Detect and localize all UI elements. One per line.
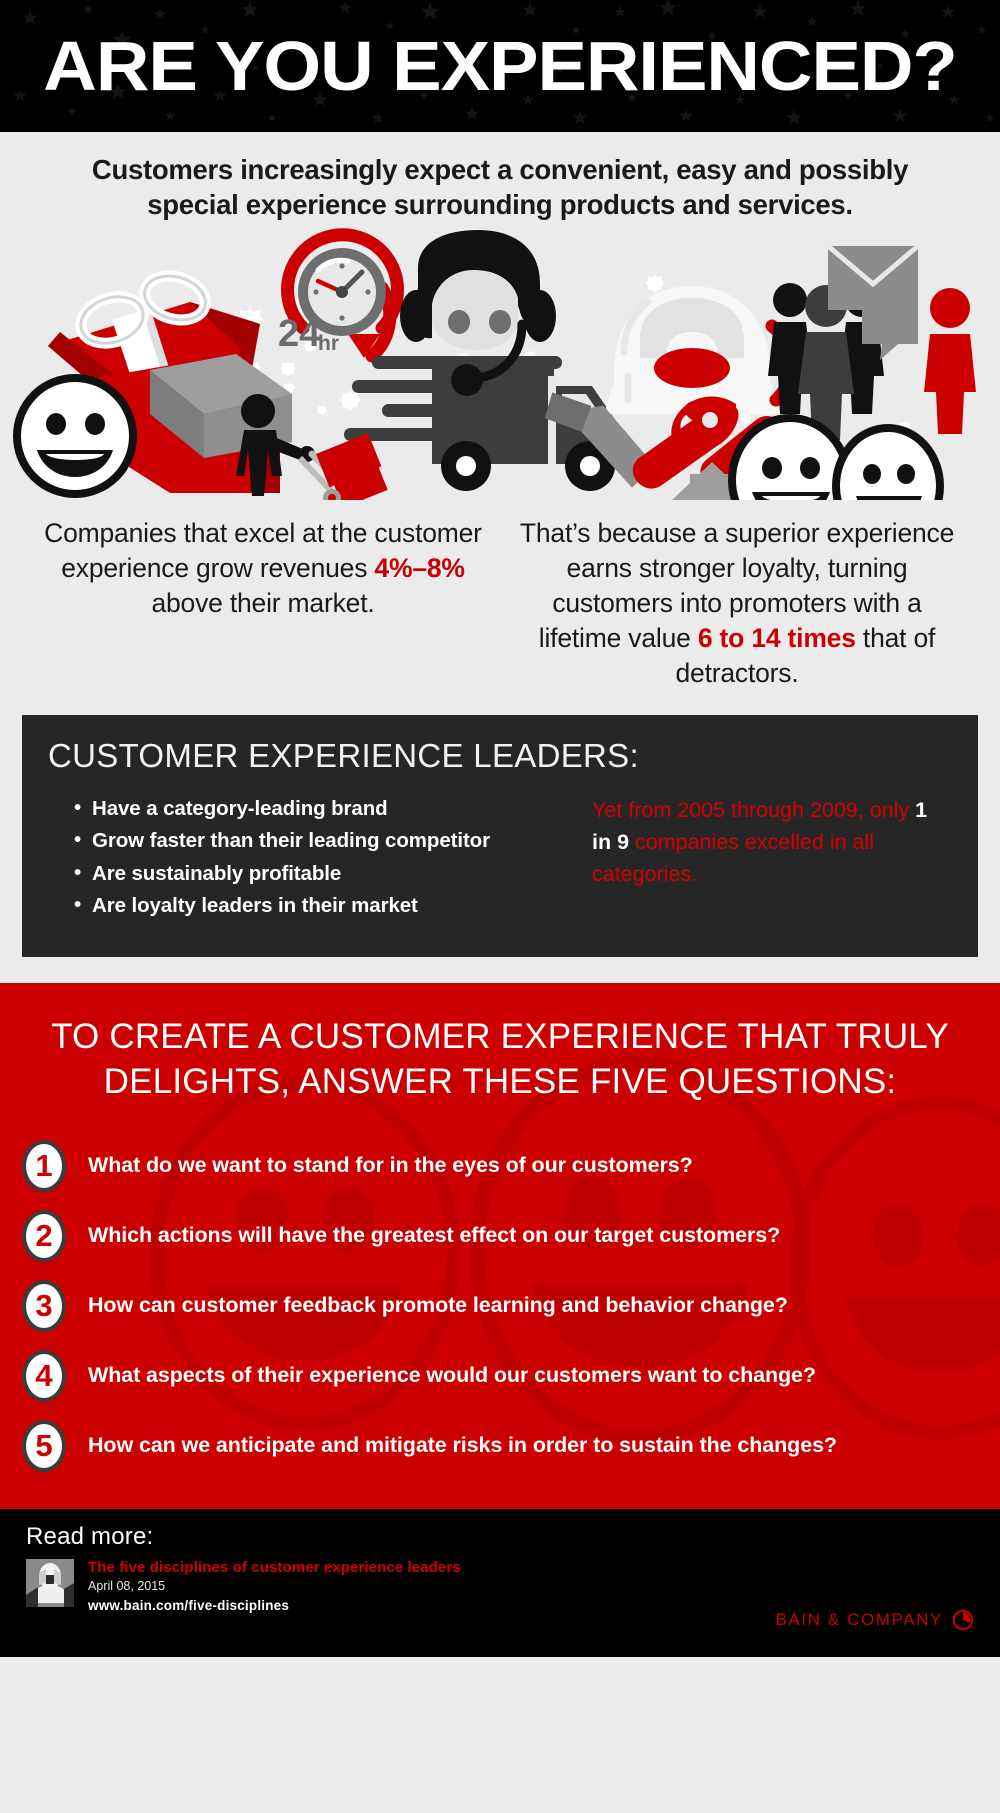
question-row-3: 3 How can customer feedback promote lear… [22,1273,1000,1339]
question-number-badge: 3 [22,1280,66,1332]
page-title: ARE YOU EXPERIENCED? [0,0,1000,132]
person-highlight-icon [924,288,976,434]
intro-line-1: Customers increasingly expect a convenie… [44,152,956,187]
question-row-1: 1 What do we want to stand for in the ey… [22,1133,1000,1199]
stat-right-highlight: 6 to 14 times [698,623,856,653]
question-row-2: 2 Which actions will have the greatest e… [22,1203,1000,1269]
smiley-face-icon [17,378,133,494]
support-agent-icon [400,230,556,458]
telephone-icon [604,286,792,414]
question-text: What do we want to stand for in the eyes… [88,1153,693,1178]
list-item: Are sustainably profitable [74,858,578,890]
article-title[interactable]: The five disciplines of customer experie… [88,1559,461,1576]
intro-line-2: special experience surrounding products … [44,187,956,222]
article-thumbnail-image [26,1559,74,1607]
leaders-bullet-list: Have a category-leading brand Grow faste… [48,793,578,922]
stat-left-post: above their market. [151,588,374,618]
question-row-5: 5 How can we anticipate and mitigate ris… [22,1413,1000,1479]
footer: Read more: The five disciplines of custo… [0,1509,1000,1657]
intro-text: Customers increasingly expect a convenie… [0,132,1000,228]
leaders-panel: CUSTOMER EXPERIENCE LEADERS: Have a cate… [22,715,978,957]
stat-left-highlight: 4%–8% [374,553,464,583]
bain-circle-icon [952,1609,974,1631]
question-text: What aspects of their experience would o… [88,1363,816,1388]
questions-heading-line-2: DELIGHTS, ANSWER THESE FIVE QUESTIONS: [26,1060,974,1105]
article-url[interactable]: www.bain.com/five-disciplines [88,1598,461,1613]
questions-list: 1 What do we want to stand for in the ey… [0,1133,1000,1479]
questions-heading-line-1: TO CREATE A CUSTOMER EXPERIENCE THAT TRU… [26,1015,974,1060]
leaders-heading: CUSTOMER EXPERIENCE LEADERS: [48,737,952,775]
illustration-band: 24 hr [0,228,1000,500]
leaders-note-post: companies excelled in all categories. [592,830,874,886]
questions-section: TO CREATE A CUSTOMER EXPERIENCE THAT TRU… [0,983,1000,1509]
hand-truck-icon [300,433,388,500]
header-banner: ARE YOU EXPERIENCED? [0,0,1000,132]
leaders-note: Yet from 2005 through 2009, only 1 in 9 … [578,793,952,922]
question-text: How can customer feedback promote learni… [88,1293,788,1318]
clock-hr-label: hr [318,332,339,355]
stat-left: Companies that excel at the customer exp… [40,516,486,691]
stats-columns: Companies that excel at the customer exp… [0,500,1000,691]
question-number-badge: 4 [22,1350,66,1402]
leaders-note-pre: Yet from 2005 through 2009, only [592,798,915,822]
list-item: Grow faster than their leading competito… [74,825,578,857]
stat-right: That’s because a superior experience ear… [514,516,960,691]
clock-hours-label: 24 [278,313,320,355]
article-link[interactable]: The five disciplines of customer experie… [26,1559,974,1613]
question-text: Which actions will have the greatest eff… [88,1223,780,1248]
question-row-4: 4 What aspects of their experience would… [22,1343,1000,1409]
infographic-page: ARE YOU EXPERIENCED? Customers increasin… [0,0,1000,1813]
list-item: Have a category-leading brand [74,793,578,825]
question-number-badge: 5 [22,1420,66,1472]
questions-heading: TO CREATE A CUSTOMER EXPERIENCE THAT TRU… [0,1015,1000,1105]
question-number-badge: 1 [22,1140,66,1192]
article-date: April 08, 2015 [88,1579,461,1593]
bain-logo: BAIN & COMPANY [775,1609,974,1631]
clock-24hr-icon: 24 hr [278,235,398,358]
list-item: Are loyalty leaders in their market [74,890,578,922]
bain-logo-text: BAIN & COMPANY [775,1610,943,1630]
question-text: How can we anticipate and mitigate risks… [88,1433,837,1458]
question-number-badge: 2 [22,1210,66,1262]
read-more-label: Read more: [26,1523,974,1551]
